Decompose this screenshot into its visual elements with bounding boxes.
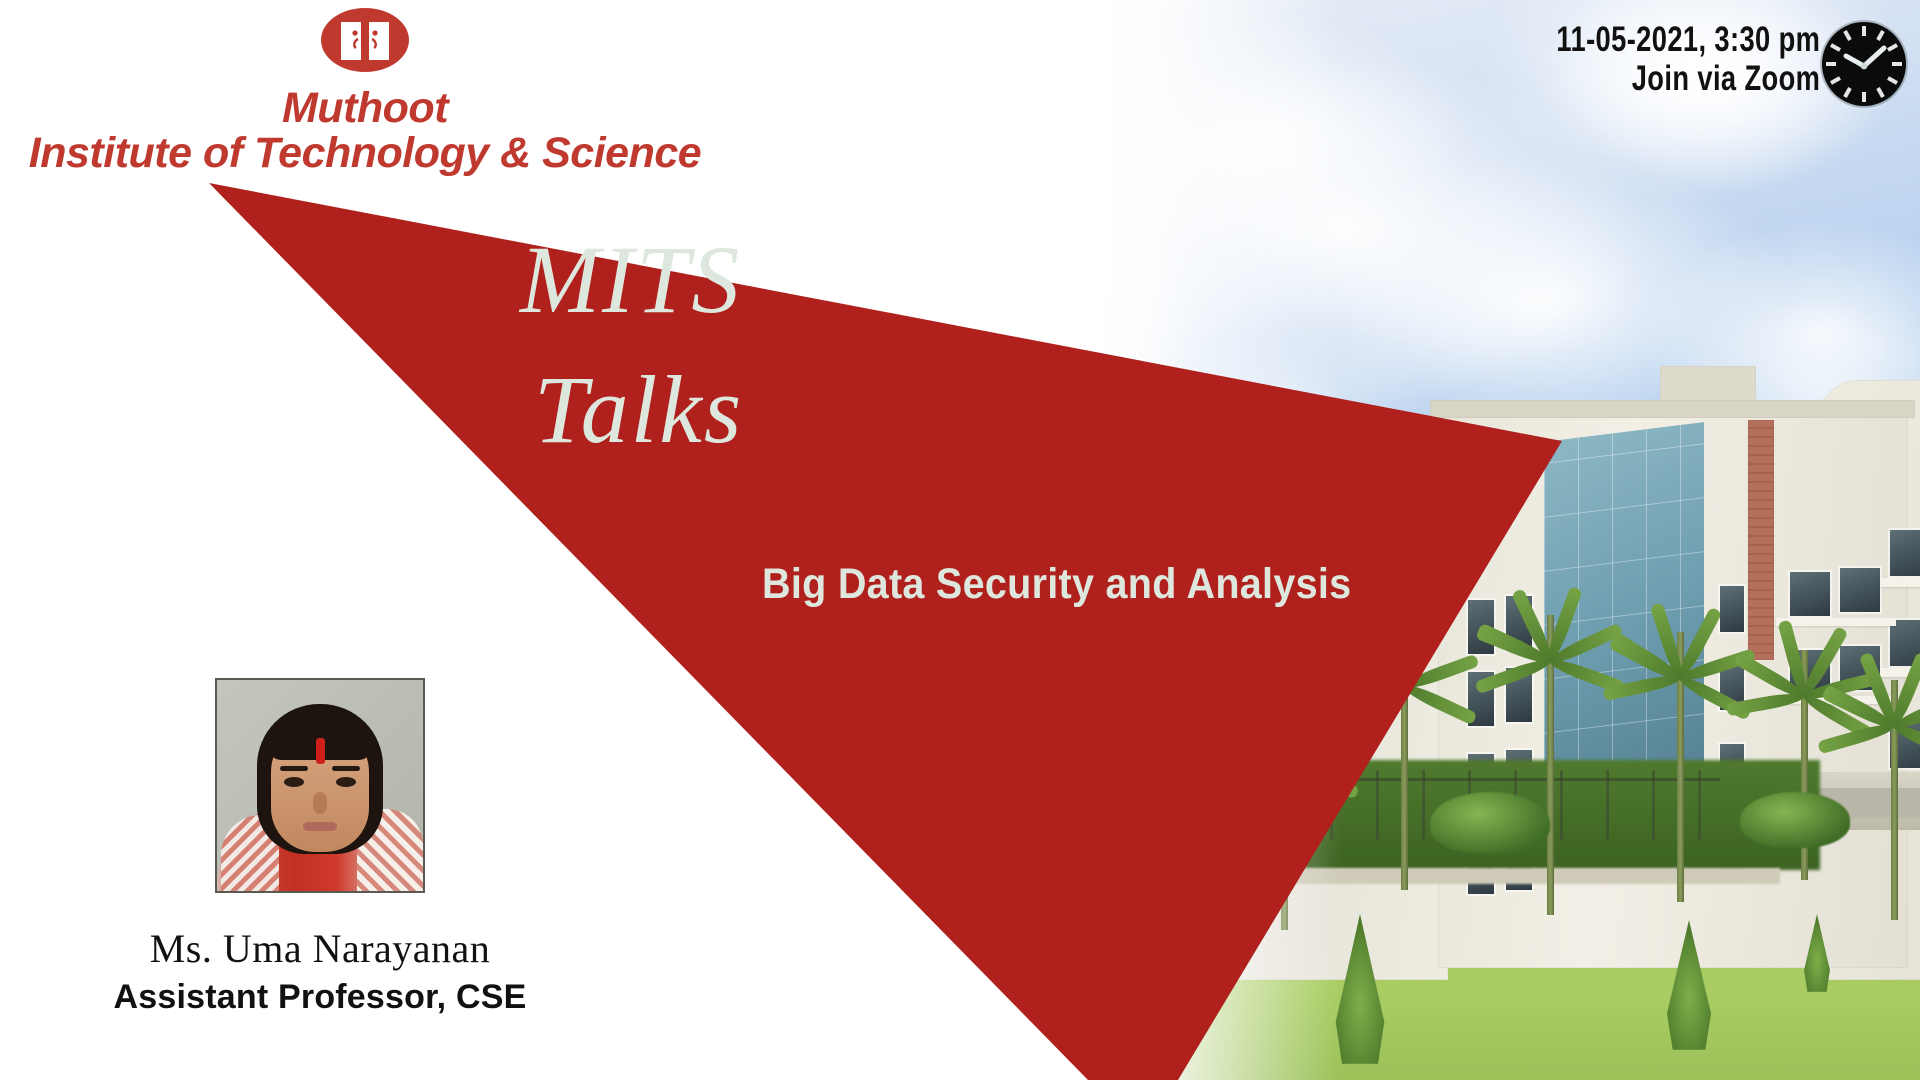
institution-name-line2: Institute of Technology & Science [0, 130, 730, 176]
building-brick-strip [1748, 420, 1774, 660]
speaker-portrait-photo [215, 678, 425, 893]
palm-tree [1890, 680, 1898, 920]
muthoot-elephant-logo-icon [317, 6, 413, 82]
title-line-talks: Talks [520, 345, 743, 475]
palm-tree [1676, 632, 1684, 902]
portrait-eyebrow [332, 766, 360, 771]
portrait-eye [336, 777, 356, 787]
talk-topic-title: Big Data Security and Analysis [762, 560, 1351, 609]
poster-canvas: Muthoot Institute of Technology & Scienc… [0, 0, 1920, 1080]
palm-tree [1546, 615, 1554, 915]
bush [1740, 792, 1850, 848]
institution-name-line1: Muthoot [0, 86, 730, 130]
portrait-eyebrow [280, 766, 308, 771]
window-ledge [1880, 578, 1920, 587]
portrait-nose [313, 792, 327, 814]
window-ledge [1776, 618, 1896, 626]
event-platform: Join via Zoom [1556, 59, 1820, 98]
page-title: MITS Talks [520, 215, 743, 474]
title-line-mits: MITS [520, 215, 743, 345]
institution-logo-block: Muthoot Institute of Technology & Scienc… [0, 6, 730, 176]
analog-clock-icon [1818, 18, 1910, 110]
event-meta: 11-05-2021, 3:30 pm Join via Zoom [1482, 20, 1820, 98]
building-roof-cap [1430, 400, 1915, 418]
portrait-lips [303, 822, 337, 831]
portrait-eye [284, 777, 304, 787]
bush [1430, 792, 1550, 854]
speaker-name: Ms. Uma Narayanan [0, 925, 640, 972]
window [1790, 572, 1830, 616]
speaker-role: Assistant Professor, CSE [0, 978, 640, 1017]
portrait-bindi [316, 738, 325, 764]
window [1840, 568, 1880, 612]
window [1890, 530, 1920, 576]
event-datetime: 11-05-2021, 3:30 pm [1556, 20, 1820, 59]
